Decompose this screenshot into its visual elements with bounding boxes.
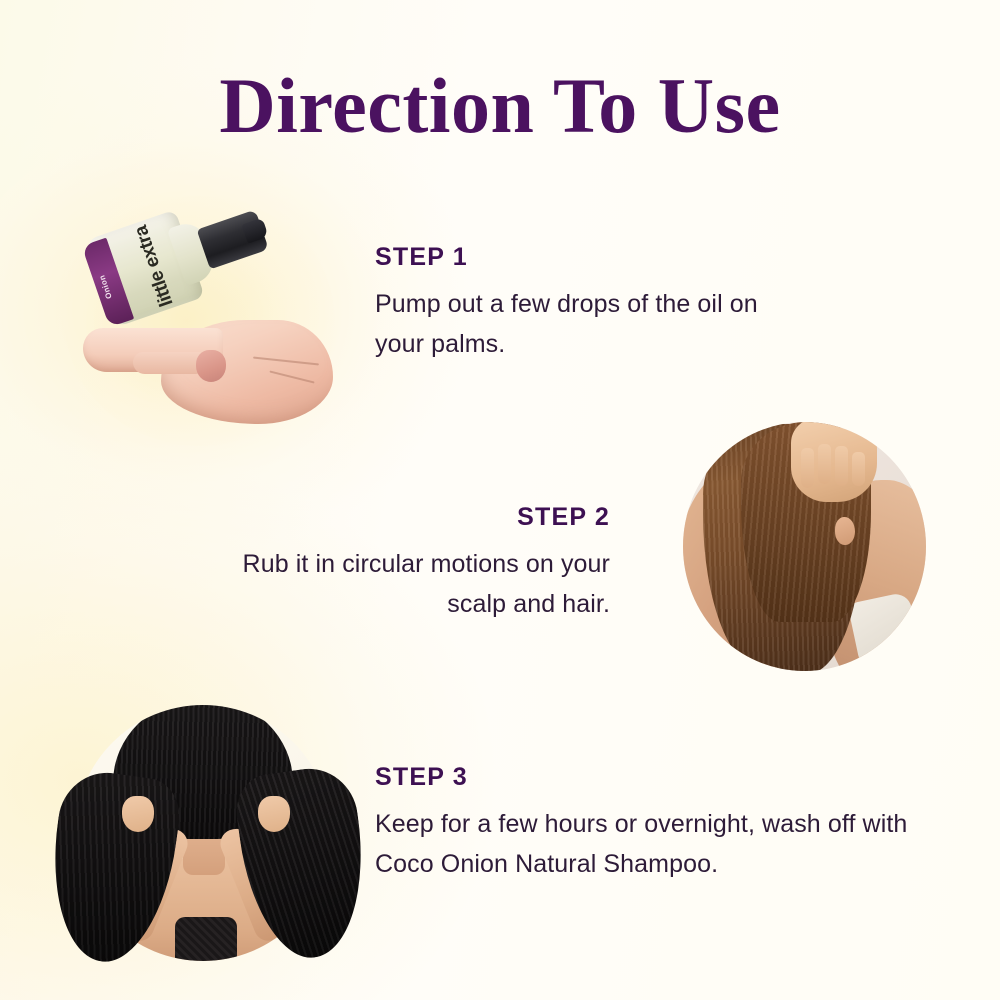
ear	[835, 517, 855, 545]
palm-thumbnail	[196, 350, 226, 382]
finger-4	[852, 452, 865, 486]
step-2-label: STEP 2	[210, 503, 610, 532]
bottle-brand-text: little extra	[131, 223, 176, 308]
step-2-image: Woman massaging oil into her scalp, seen…	[683, 422, 926, 671]
step-3-label: STEP 3	[375, 763, 935, 792]
finger-3	[835, 446, 848, 486]
bottle-variant-text: Onion	[97, 273, 114, 299]
step-3-image-alt: Smiling woman holding her long black hai…	[70, 700, 71, 701]
direction-to-use-poster: Direction To Use Onion little extra	[0, 0, 1000, 1000]
step-1-body: Pump out a few drops of the oil on your …	[375, 284, 805, 364]
step-3-image: Smiling woman holding her long black hai…	[70, 700, 340, 966]
step-1-image: Onion little extra	[55, 196, 345, 446]
black-top-garment	[175, 917, 237, 961]
finger-2	[818, 444, 831, 484]
step-1-label: STEP 1	[375, 243, 805, 272]
step-2-text-block: STEP 2 Rub it in circular motions on you…	[210, 503, 610, 624]
step-3-text-block: STEP 3 Keep for a few hours or overnight…	[375, 763, 935, 884]
open-palm-illustration	[83, 314, 333, 426]
hand-left	[122, 796, 154, 832]
palm-second-finger	[133, 352, 203, 374]
step-2-body: Rub it in circular motions on your scalp…	[210, 544, 610, 624]
step-1-text-block: STEP 1 Pump out a few drops of the oil o…	[375, 243, 805, 364]
page-title: Direction To Use	[0, 60, 1000, 152]
hand-right	[258, 796, 290, 832]
step-3-body: Keep for a few hours or overnight, wash …	[375, 804, 935, 884]
finger-1	[801, 448, 814, 488]
